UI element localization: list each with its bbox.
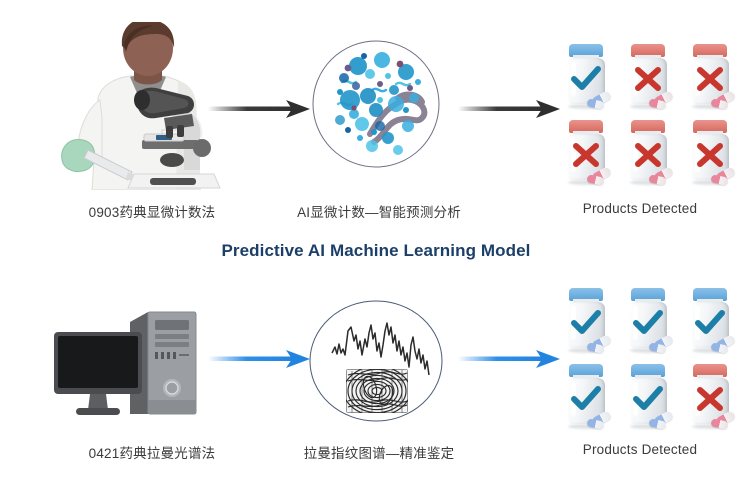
caption-top-left: 0903药典显微计数法 [89, 201, 216, 221]
pill-bottle-grid-bottom [558, 282, 738, 432]
cross-icon [629, 140, 667, 170]
pill-bottle-check [682, 282, 738, 356]
check-icon [629, 308, 667, 338]
check-icon [567, 64, 605, 94]
pill-bottle-check [558, 38, 614, 112]
pill-bottle-cross [558, 114, 614, 188]
pill-bottle-check [620, 282, 676, 356]
caption-bottom-mid: 拉曼指纹图谱—精准鉴定 [304, 442, 455, 462]
cross-icon [629, 64, 667, 94]
pill-bottle-cross [620, 38, 676, 112]
check-icon [691, 308, 729, 338]
arrow-ai-to-products [458, 97, 562, 121]
pill-bottle-check [558, 282, 614, 356]
caption-top-mid: AI显微计数—智能预测分析 [297, 201, 461, 221]
check-icon [567, 308, 605, 338]
pill-bottle-cross [682, 358, 738, 432]
arrow-raman-to-products [458, 347, 562, 371]
pill-bottle-cross [620, 114, 676, 188]
pill-bottle-grid-top [558, 38, 738, 188]
cross-icon [691, 64, 729, 94]
check-icon [629, 384, 667, 414]
arrow-lab-to-ai [208, 97, 312, 121]
pill-bottle-check [620, 358, 676, 432]
caption-bottom-right: Products Detected [583, 442, 697, 457]
pill-bottle-cross [682, 38, 738, 112]
cross-icon [691, 384, 729, 414]
arrow-computer-to-raman [208, 347, 312, 371]
caption-bottom-left: 0421药典拉曼光谱法 [89, 442, 216, 462]
raman-spectrum-fingerprint-icon [308, 297, 444, 425]
caption-top-right: Products Detected [583, 201, 697, 216]
cross-icon [691, 140, 729, 170]
workflow-diagram: 0903药典显微计数法 AI显微计数—智能预测分析 Products Detec… [0, 0, 752, 483]
cross-icon [567, 140, 605, 170]
page-title: Predictive AI Machine Learning Model [0, 241, 752, 261]
microscopy-colonies-icon [310, 38, 442, 170]
check-icon [567, 384, 605, 414]
pill-bottle-check [558, 358, 614, 432]
pill-bottle-cross [682, 114, 738, 188]
desktop-computer-icon [52, 304, 220, 426]
